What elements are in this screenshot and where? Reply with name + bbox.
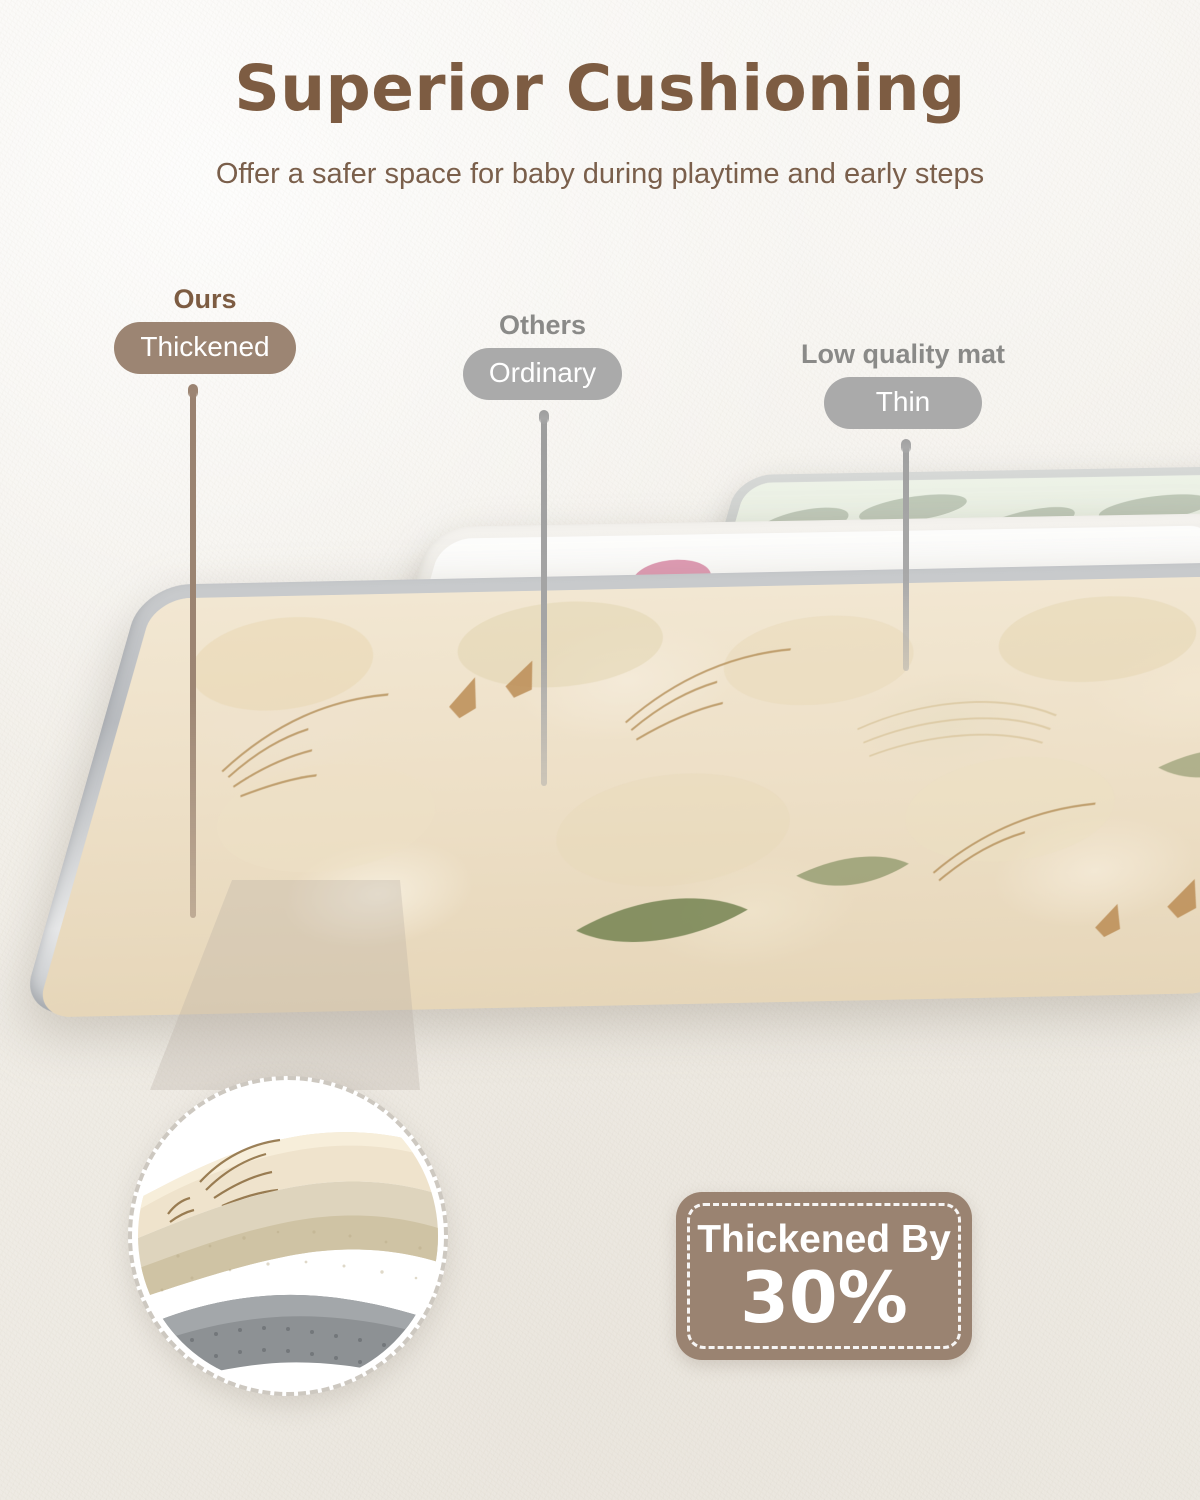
callout-caption: Low quality mat — [772, 341, 1034, 368]
badge-thickened-by: Thickened By 30% — [676, 1192, 972, 1360]
leader-line-ours — [190, 388, 196, 918]
leader-line-thin — [903, 443, 909, 671]
callout-others: Others Ordinary — [440, 312, 645, 400]
callout-caption: Ours — [110, 286, 300, 313]
cross-section-layers — [138, 1086, 438, 1386]
callout-ours: Ours Thickened — [110, 286, 300, 374]
infographic-page: Superior Cushioning Offer a safer space … — [0, 0, 1200, 1500]
magnifier-cross-section — [128, 1076, 448, 1396]
badge-line-2: 30% — [740, 1263, 908, 1333]
mat-ours-thickened — [20, 560, 1200, 1015]
badge-thin-pill: Thin — [824, 377, 982, 429]
callout-low-quality-mat: Low quality mat Thin — [772, 341, 1034, 429]
leader-line-others — [541, 414, 547, 786]
badge-line-1: Thickened By — [697, 1220, 951, 1259]
page-title: Superior Cushioning — [0, 52, 1200, 125]
badge-thickened-pill: Thickened — [114, 322, 295, 374]
mat-stack — [0, 455, 1200, 1025]
callout-caption: Others — [440, 312, 645, 339]
magnifier-content — [138, 1086, 438, 1386]
mat-botanical-print — [35, 574, 1200, 1017]
badge-ordinary-pill: Ordinary — [463, 348, 622, 400]
page-subtitle: Offer a safer space for baby during play… — [0, 158, 1200, 191]
